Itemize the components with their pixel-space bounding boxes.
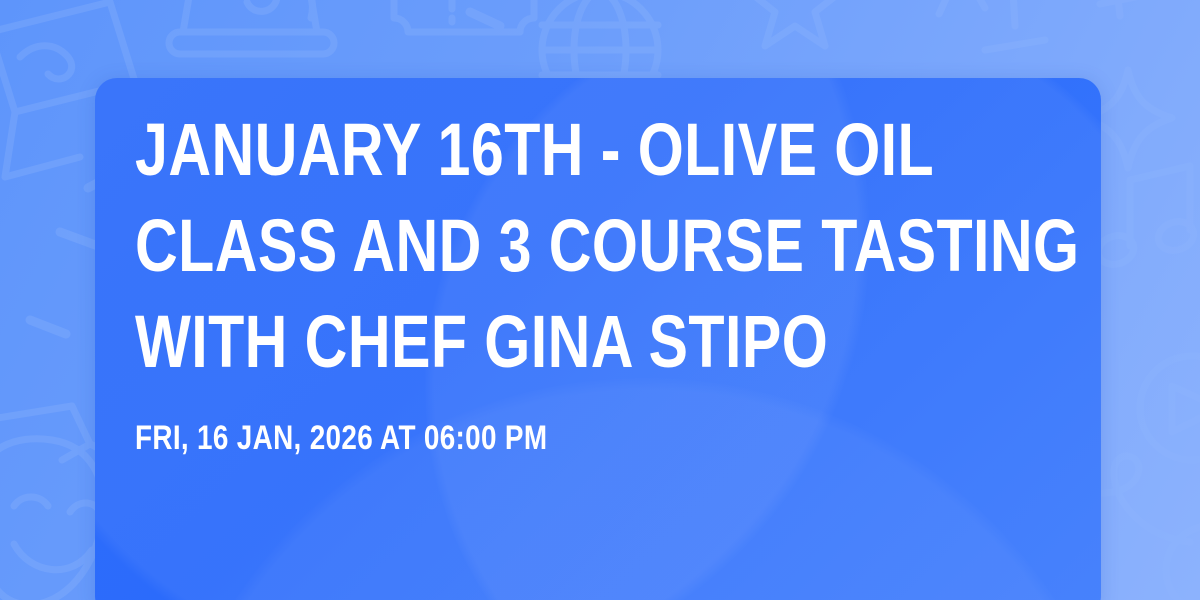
star-burst-icon [747, 0, 843, 46]
card-content: January 16th - Olive Oil Class and 3 Cou… [135, 102, 1061, 458]
music-note-icon [1095, 166, 1198, 269]
balance-scale-icon [939, 0, 1093, 50]
event-title-line-3: with Chef Gina Stipo [135, 294, 1061, 390]
event-title-line-2: Class and 3 Course Tasting [135, 198, 1061, 294]
ticket-icon [394, 0, 534, 32]
event-title: January 16th - Olive Oil Class and 3 Cou… [135, 102, 1061, 390]
event-title-line-1: January 16th - Olive Oil [135, 102, 1061, 198]
event-card: January 16th - Olive Oil Class and 3 Cou… [95, 78, 1101, 600]
event-datetime: Fri, 16 Jan, 2026 at 06:00 PM [135, 418, 1061, 458]
sparkle-icon [1100, 0, 1150, 16]
laptop-presentation-icon [169, 0, 334, 54]
event-banner: January 16th - Olive Oil Class and 3 Cou… [0, 0, 1200, 600]
